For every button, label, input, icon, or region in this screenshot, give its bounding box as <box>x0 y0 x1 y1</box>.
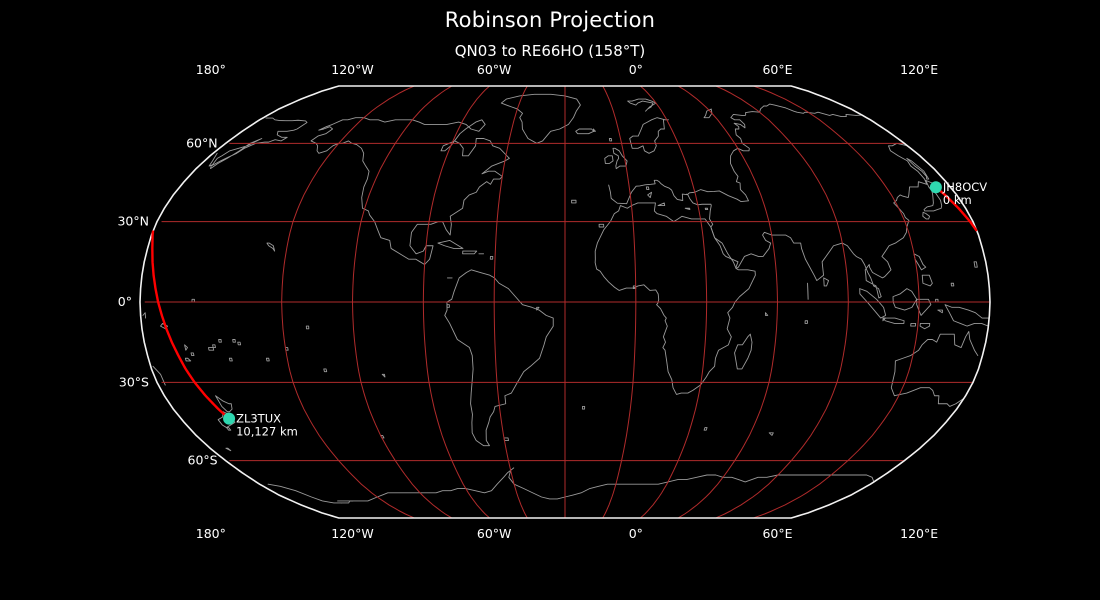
coastline <box>501 94 580 143</box>
coastline <box>229 358 232 361</box>
coastline <box>266 358 269 361</box>
coastline <box>185 345 188 350</box>
coastline <box>769 433 773 436</box>
origin-marker-dot[interactable] <box>930 181 942 193</box>
coastline <box>824 278 829 286</box>
coastline <box>233 340 236 343</box>
lon-label-top-2: 120°E <box>900 62 938 77</box>
coastline <box>883 318 904 323</box>
coastline <box>891 361 964 407</box>
coastline <box>219 340 222 343</box>
coastline <box>267 243 275 251</box>
coastline <box>490 256 492 259</box>
coastline <box>582 406 584 409</box>
robinson-map: JH8OCV0 kmZL3TUX10,127 km 0°0°60°E60°E12… <box>0 0 1100 600</box>
coastline <box>572 200 576 203</box>
station-markers: JH8OCV0 kmZL3TUX10,127 km <box>223 180 987 438</box>
coastline <box>923 212 930 219</box>
lon-label-bottom-0: 0° <box>629 526 643 541</box>
coastline <box>765 313 767 316</box>
coastline <box>808 283 809 299</box>
lat-label-2: 0° <box>118 294 132 309</box>
lat-label-0: 60°N <box>186 135 218 150</box>
lon-label-bottom-1: 60°E <box>762 526 792 541</box>
coastline <box>704 109 712 118</box>
lon-label-bottom-5: 60°W <box>477 526 512 541</box>
coastline <box>191 353 194 356</box>
map-figure: Robinson Projection QN03 to RE66HO (158°… <box>0 0 1100 600</box>
coastline <box>593 129 595 131</box>
coastline <box>911 323 916 326</box>
coastline <box>306 326 309 329</box>
coastline <box>938 310 943 313</box>
coastline <box>628 99 656 111</box>
coastline <box>208 348 213 351</box>
origin-callsign-label: JH8OCV <box>942 180 987 194</box>
lon-label-bottom-3: 180° <box>196 526 226 541</box>
coastline <box>924 191 942 211</box>
coastline <box>895 331 977 360</box>
coastlines-layer <box>143 94 989 503</box>
coastline <box>685 208 690 209</box>
coastline <box>687 143 927 298</box>
coastline <box>226 448 231 450</box>
coastline <box>595 203 755 394</box>
coastline <box>974 262 977 267</box>
coastline <box>445 270 553 446</box>
coastline <box>238 342 241 345</box>
coastline <box>338 468 874 501</box>
coastline <box>704 428 707 431</box>
coastline <box>893 289 917 310</box>
coastline <box>951 283 954 286</box>
path-segment <box>152 232 229 419</box>
origin-distance-label: 0 km <box>943 193 972 207</box>
coastline <box>463 251 477 254</box>
coastline <box>268 484 341 503</box>
coastline <box>922 275 932 286</box>
graticule-layer <box>145 86 990 518</box>
destination-marker-dot[interactable] <box>223 413 235 425</box>
coastline <box>576 129 594 134</box>
coastline <box>185 358 190 361</box>
lat-label-1: 30°N <box>117 214 149 229</box>
coastline <box>920 323 930 328</box>
coastline <box>646 187 649 190</box>
lon-label-top-5: 60°W <box>477 62 512 77</box>
coastline <box>311 118 509 265</box>
lat-label-3: 30°S <box>119 374 149 389</box>
coastline <box>605 156 613 164</box>
coastline <box>382 374 385 377</box>
coastline <box>648 192 652 197</box>
destination-callsign-label: ZL3TUX <box>236 412 281 426</box>
lon-label-bottom-2: 120°E <box>900 526 938 541</box>
coastline <box>735 334 752 369</box>
coastline <box>805 321 808 324</box>
coastline <box>213 345 216 348</box>
coastline <box>227 428 231 431</box>
lat-label-4: 60°S <box>188 453 218 468</box>
lon-label-bottom-4: 120°W <box>331 526 373 541</box>
coastline <box>447 305 449 308</box>
lon-label-top-0: 0° <box>629 62 643 77</box>
coastline <box>599 224 604 227</box>
lon-label-top-3: 180° <box>196 62 226 77</box>
coastline <box>945 305 989 326</box>
coastline <box>324 369 327 372</box>
coastline <box>143 313 146 318</box>
lon-label-top-4: 120°W <box>331 62 373 77</box>
coastline <box>609 139 611 141</box>
coastline <box>705 208 707 209</box>
coastline <box>860 289 886 318</box>
coastline <box>630 118 669 154</box>
coastline <box>438 240 463 248</box>
destination-distance-label: 10,127 km <box>236 425 298 439</box>
lon-label-top-1: 60°E <box>762 62 792 77</box>
coastline <box>658 203 665 206</box>
